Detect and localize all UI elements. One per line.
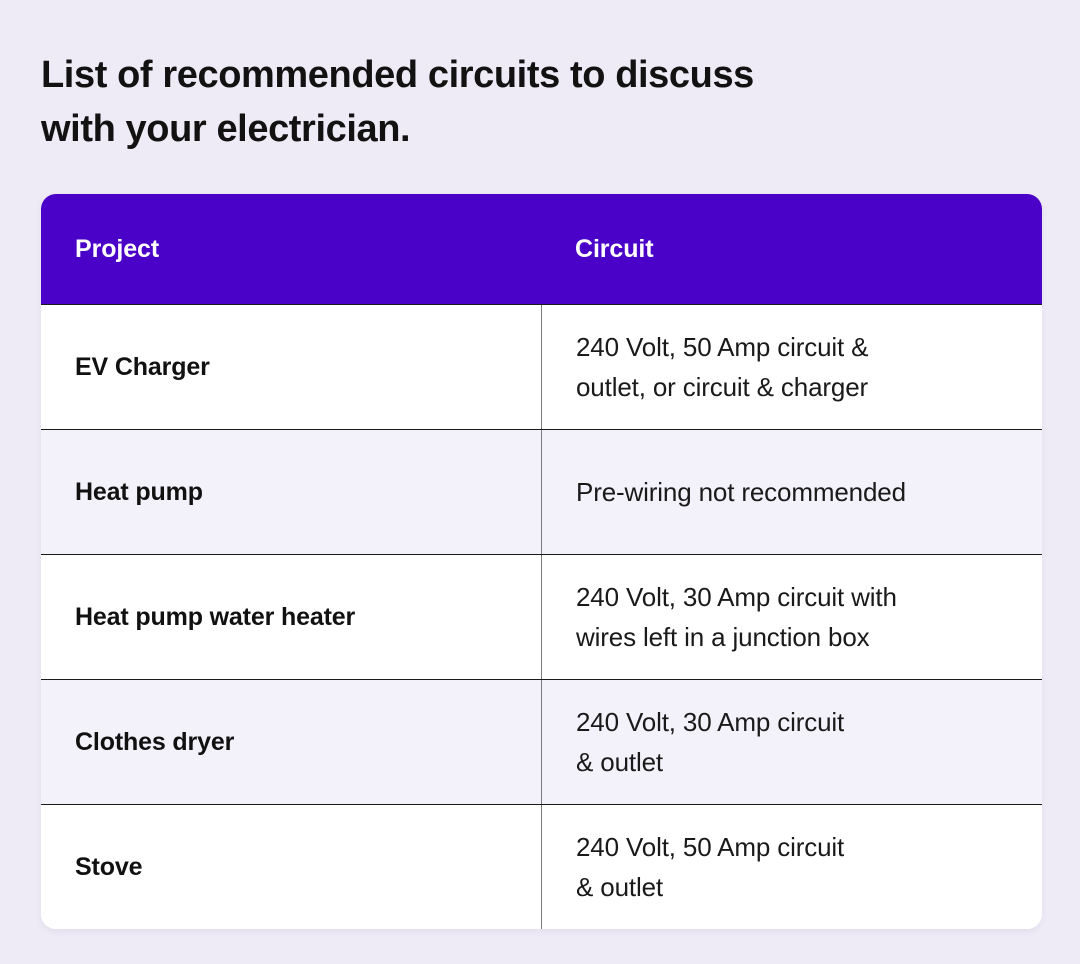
table-header-row: Project Circuit (41, 194, 1042, 304)
page-title: List of recommended circuits to discuss … (41, 48, 861, 156)
circuit-description-line-1: 240 Volt, 30 Amp circuit with (576, 577, 897, 617)
table-cell-project: Heat pump water heater (41, 555, 541, 679)
table-row: Stove 240 Volt, 50 Amp circuit & outlet (41, 804, 1042, 929)
table-row: Heat pump Pre-wiring not recommended (41, 429, 1042, 554)
table-cell-circuit: 240 Volt, 30 Amp circuit with wires left… (541, 555, 1042, 679)
circuit-description: 240 Volt, 30 Amp circuit & outlet (576, 702, 844, 782)
circuit-description: 240 Volt, 30 Amp circuit with wires left… (576, 577, 897, 657)
circuit-description: 240 Volt, 50 Amp circuit & outlet, or ci… (576, 327, 868, 407)
table-header-cell-project: Project (41, 194, 541, 304)
circuit-description-line-2: & outlet (576, 742, 844, 782)
circuit-description-line-2: outlet, or circuit & charger (576, 367, 868, 407)
recommended-circuits-table: Project Circuit EV Charger 240 Volt, 50 … (41, 194, 1042, 929)
project-name: Heat pump water heater (75, 600, 355, 634)
column-header-project-label: Project (75, 235, 159, 264)
circuit-description: Pre-wiring not recommended (576, 472, 906, 512)
table-row: Clothes dryer 240 Volt, 30 Amp circuit &… (41, 679, 1042, 804)
circuit-description: 240 Volt, 50 Amp circuit & outlet (576, 827, 844, 907)
table-cell-project: Stove (41, 805, 541, 929)
circuit-description-line-1: Pre-wiring not recommended (576, 472, 906, 512)
table-cell-project: Clothes dryer (41, 680, 541, 804)
project-name: EV Charger (75, 350, 210, 384)
circuit-description-line-1: 240 Volt, 50 Amp circuit & (576, 327, 868, 367)
table-cell-project: Heat pump (41, 430, 541, 554)
page-title-line-1: List of recommended circuits to discuss (41, 48, 861, 102)
table-row: EV Charger 240 Volt, 50 Amp circuit & ou… (41, 304, 1042, 429)
project-name: Heat pump (75, 475, 203, 509)
circuit-description-line-1: 240 Volt, 50 Amp circuit (576, 827, 844, 867)
circuit-description-line-2: wires left in a junction box (576, 617, 897, 657)
project-name: Clothes dryer (75, 725, 234, 759)
table-cell-circuit: 240 Volt, 50 Amp circuit & outlet (541, 805, 1042, 929)
circuit-description-line-1: 240 Volt, 30 Amp circuit (576, 702, 844, 742)
column-header-circuit-label: Circuit (575, 235, 653, 264)
table-cell-circuit: Pre-wiring not recommended (541, 430, 1042, 554)
page-title-line-2: with your electrician. (41, 102, 861, 156)
circuit-description-line-2: & outlet (576, 867, 844, 907)
project-name: Stove (75, 850, 142, 884)
table-header-cell-circuit: Circuit (541, 194, 1042, 304)
table-cell-circuit: 240 Volt, 50 Amp circuit & outlet, or ci… (541, 305, 1042, 429)
page-root: List of recommended circuits to discuss … (0, 0, 1080, 964)
table-cell-project: EV Charger (41, 305, 541, 429)
table-cell-circuit: 240 Volt, 30 Amp circuit & outlet (541, 680, 1042, 804)
table-row: Heat pump water heater 240 Volt, 30 Amp … (41, 554, 1042, 679)
